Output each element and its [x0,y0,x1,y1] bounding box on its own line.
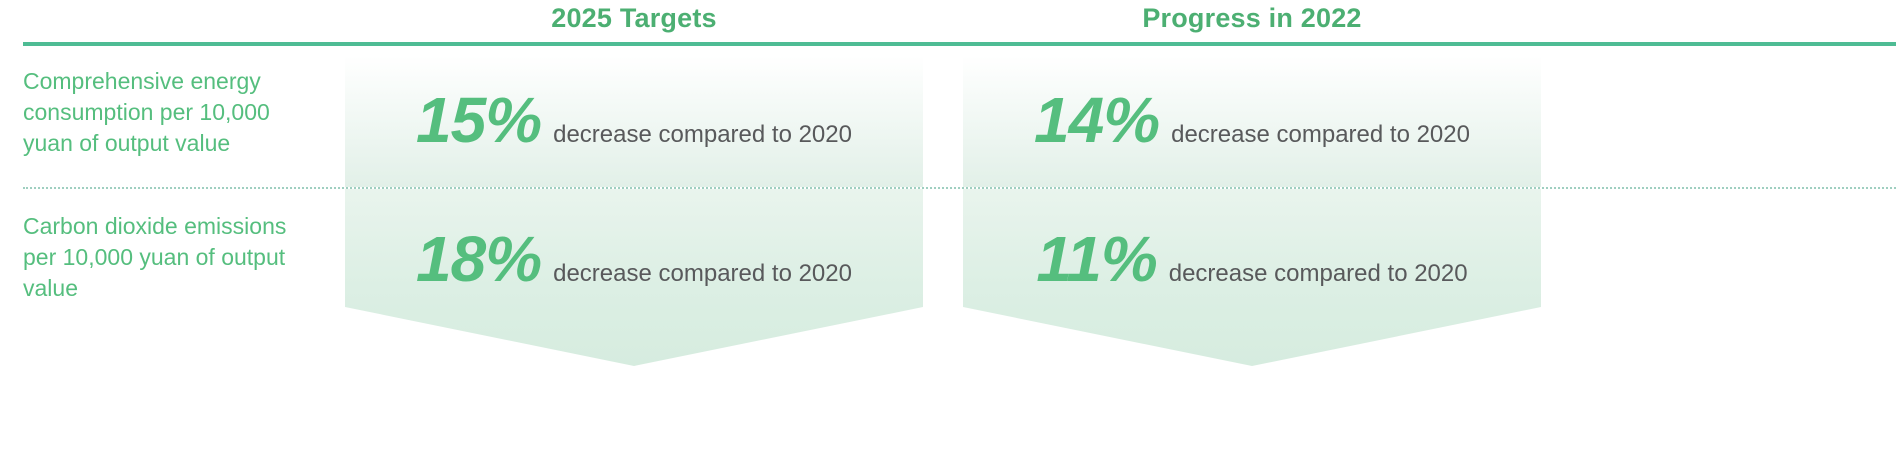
metric-panel-progress-energy: 14% decrease compared to 2020 [963,56,1541,187]
metric-value: 11% [1036,227,1156,291]
metric-line: 15% decrease compared to 2020 [416,88,852,152]
metric-caption: decrease compared to 2020 [553,262,852,286]
metric-panel-targets-energy: 15% decrease compared to 2020 [345,56,923,187]
row-label-energy-consumption: Comprehensive energy consumption per 10,… [23,66,323,159]
metric-caption: decrease compared to 2020 [1171,123,1470,147]
metric-line: 11% decrease compared to 2020 [1036,227,1467,291]
column-header-2025-targets: 2025 Targets [345,0,923,36]
column-header-progress-2022: Progress in 2022 [963,0,1541,36]
infographic-root: 2025 Targets Progress in 2022 Comprehens… [0,0,1896,452]
row-label-carbon-dioxide-emissions: Carbon dioxide emissions per 10,000 yuan… [23,211,323,304]
metric-value: 14% [1034,88,1159,152]
metric-value: 15% [416,88,541,152]
metric-panel-targets-co2: 18% decrease compared to 2020 [345,189,923,366]
header-rule [23,42,1896,46]
metric-caption: decrease compared to 2020 [553,123,852,147]
metric-line: 14% decrease compared to 2020 [1034,88,1470,152]
metric-caption: decrease compared to 2020 [1169,262,1468,286]
panel-content: 18% decrease compared to 2020 [345,189,923,404]
metric-value: 18% [416,227,541,291]
metric-panel-progress-co2: 11% decrease compared to 2020 [963,189,1541,366]
metric-line: 18% decrease compared to 2020 [416,227,852,291]
row-divider-dotted [23,187,1896,189]
panel-content: 11% decrease compared to 2020 [963,189,1541,404]
